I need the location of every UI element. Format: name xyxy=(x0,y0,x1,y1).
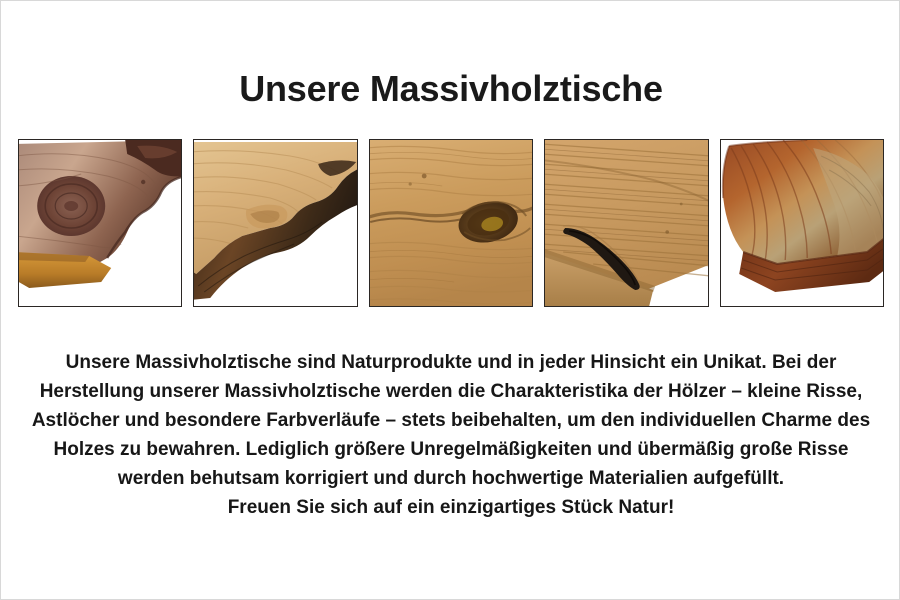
gallery-panel-3 xyxy=(369,139,533,307)
paragraph-line: Freuen Sie sich auf ein einzigartiges St… xyxy=(31,493,871,522)
wood-slab-burl-image xyxy=(19,140,181,306)
image-gallery xyxy=(18,139,884,307)
wood-slab-sheesham-image xyxy=(721,140,883,306)
gallery-panel-2 xyxy=(193,139,357,307)
wood-grain-knot-image xyxy=(370,140,532,306)
wood-table-crack-image xyxy=(545,140,707,306)
paragraph-line: Astlöcher und besondere Farbverläufe – s… xyxy=(31,406,871,435)
paragraph-line: Unsere Massivholztische sind Naturproduk… xyxy=(31,348,871,377)
gallery-panel-5 xyxy=(720,139,884,307)
wood-slab-light-edge-image xyxy=(194,140,356,306)
poster-canvas: Unsere Massivholztische xyxy=(0,0,900,600)
gallery-panel-1 xyxy=(18,139,182,307)
gallery-panel-4 xyxy=(544,139,708,307)
page-title: Unsere Massivholztische xyxy=(1,68,900,110)
paragraph-line: werden behutsam korrigiert und durch hoc… xyxy=(31,464,871,493)
description-paragraph: Unsere Massivholztische sind Naturproduk… xyxy=(31,348,871,522)
paragraph-line: Herstellung unserer Massivholztische wer… xyxy=(31,377,871,406)
paragraph-line: Holzes zu bewahren. Lediglich größere Un… xyxy=(31,435,871,464)
